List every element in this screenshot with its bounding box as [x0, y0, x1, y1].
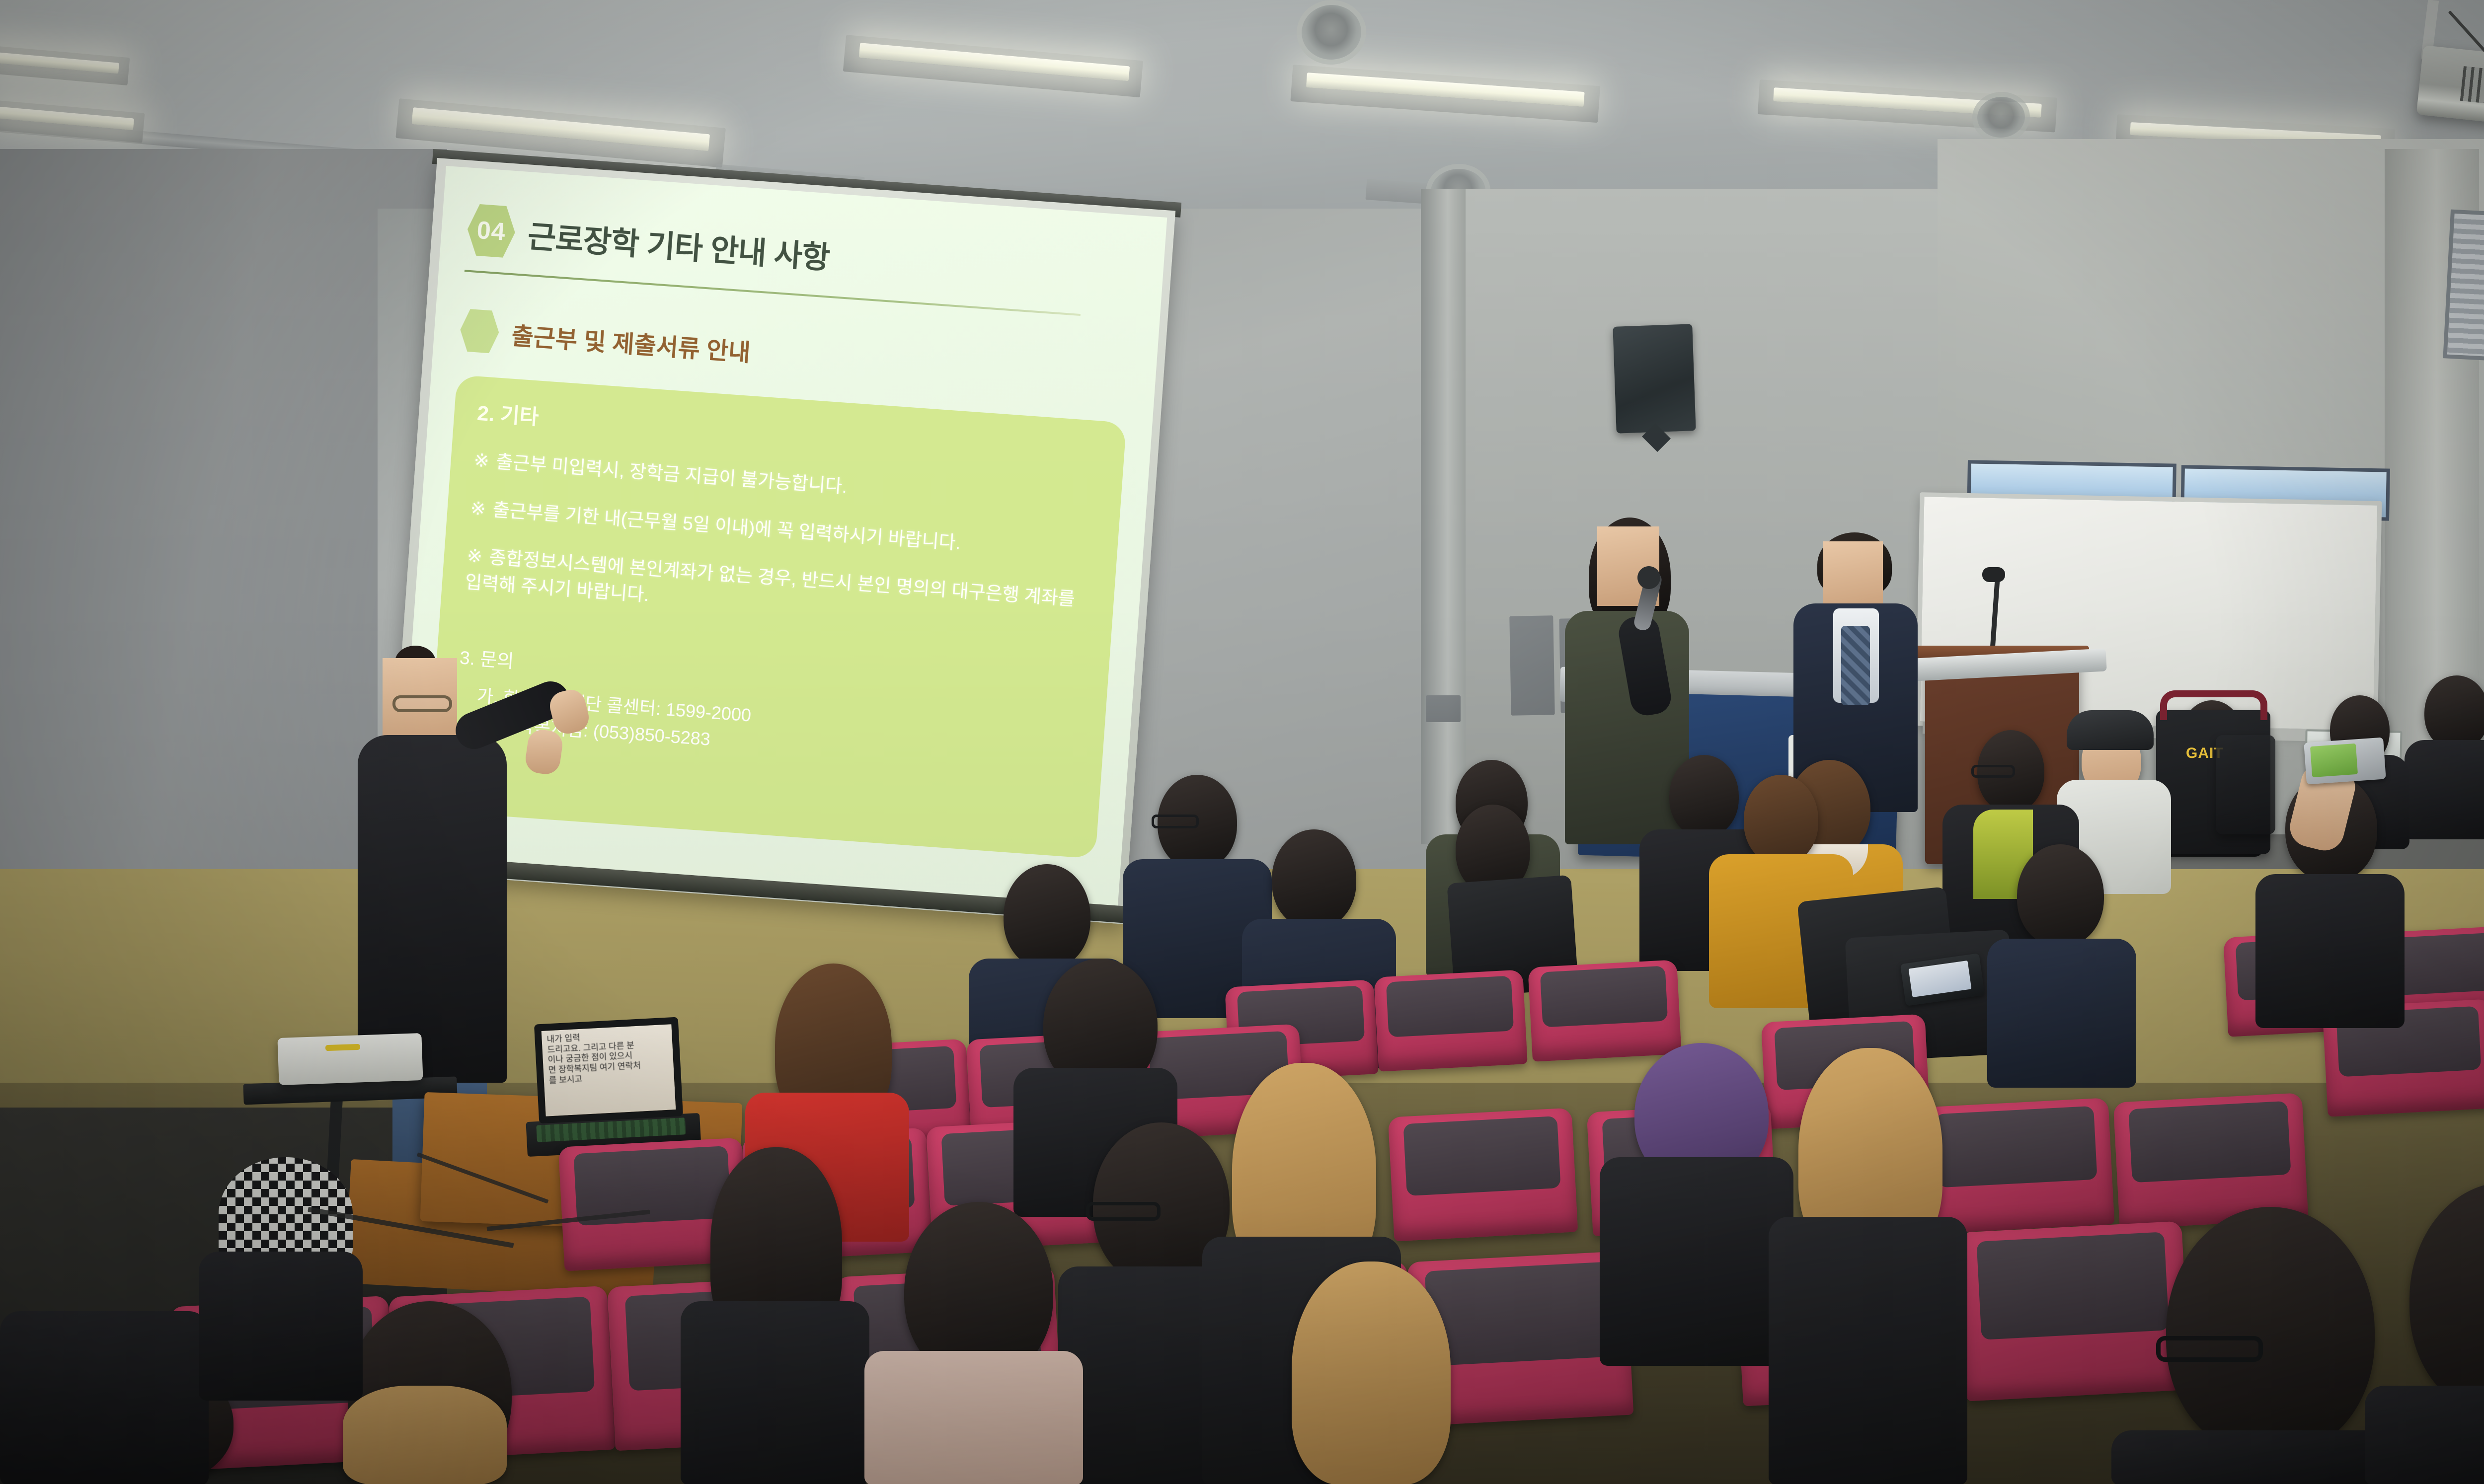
audience-head — [343, 1386, 507, 1484]
audience-head — [1272, 829, 1356, 929]
window-blinds — [2443, 210, 2484, 367]
audience-body — [681, 1301, 869, 1484]
audience-glasses — [1086, 1202, 1161, 1221]
audience-glasses — [1152, 815, 1199, 828]
audience-head — [1292, 1261, 1451, 1484]
portable-projector — [277, 1033, 423, 1085]
staff-tie — [1841, 626, 1870, 705]
auditorium-seat — [1374, 969, 1528, 1071]
bullet-text: 출근부 미입력시, 장학금 지급이 불가능합니다. — [495, 451, 848, 497]
audience-body — [2405, 740, 2484, 839]
audience-body — [2365, 1386, 2484, 1484]
audience-head — [2424, 675, 2484, 750]
bullet-mark: ※ — [466, 545, 483, 567]
microphone-head — [1637, 566, 1660, 589]
auditorium-seat — [1528, 960, 1682, 1061]
wheelchair-handle — [2160, 690, 2267, 720]
smartphone-screen — [2310, 743, 2358, 777]
slide-title: 근로장학 기타 안내 사항 — [526, 211, 831, 277]
lecture-hall-photo: 04 근로장학 기타 안내 사항 출근부 및 제출서류 안내 2. 기타 ※출근… — [0, 0, 2484, 1484]
audience-body — [864, 1351, 1083, 1484]
slide-bullet-hexagon-icon — [459, 308, 500, 354]
auditorium-seat — [1920, 1098, 2115, 1234]
podium-microphone — [1982, 567, 2005, 582]
wheelchair — [2216, 735, 2275, 834]
wall-outlet-plate — [1426, 695, 1461, 722]
slide-number-badge: 04 — [466, 204, 517, 259]
interpreter-body — [358, 735, 507, 1083]
audience-body — [1600, 1157, 1793, 1366]
projector-power-button[interactable] — [325, 1044, 360, 1051]
slide-header: 04 근로장학 기타 안내 사항 — [466, 204, 1139, 303]
interpreter-glasses — [392, 695, 452, 712]
bullet-mark: ※ — [469, 498, 486, 519]
audience-head — [2166, 1207, 2375, 1455]
audience-body — [199, 1252, 363, 1401]
audience-body — [2111, 1430, 2390, 1484]
laptop-caption-screen: 내가 입력 드리고요. 그리고 다른 분 이나 궁금한 점이 있으시 면 장학복… — [534, 1017, 683, 1124]
audience-body — [1769, 1217, 1967, 1484]
auditorium-seat — [1388, 1108, 1578, 1241]
wall-access-panel — [1509, 615, 1554, 716]
audience-body — [2255, 874, 2405, 1028]
audience-head — [1669, 755, 1739, 837]
wall-pillar — [1421, 189, 1466, 844]
audience-head — [2017, 844, 2104, 946]
auditorium-seat — [1958, 1221, 2190, 1401]
audience-head — [1004, 864, 1090, 968]
baseball-cap — [2067, 710, 2154, 750]
audience-head — [1744, 775, 1818, 864]
audience-glasses — [1971, 765, 2015, 778]
bullet-mark: ※ — [473, 450, 490, 471]
slide-body-panel: 2. 기타 ※출근부 미입력시, 장학금 지급이 불가능합니다. ※출근부를 기… — [426, 375, 1126, 859]
audience-glasses — [2156, 1336, 2263, 1362]
audience-body — [1987, 939, 2136, 1088]
slide-subtitle: 출근부 및 제출서류 안내 — [511, 316, 752, 368]
bullet-text: 출근부를 기한 내(근무월 5일 이내)에 꼭 입력하시기 바랍니다. — [492, 499, 961, 553]
presentation-slide: 04 근로장학 기타 안내 사항 출근부 및 제출서류 안내 2. 기타 ※출근… — [396, 166, 1167, 908]
wall-speaker — [1613, 324, 1696, 433]
audience-body — [0, 1311, 209, 1484]
